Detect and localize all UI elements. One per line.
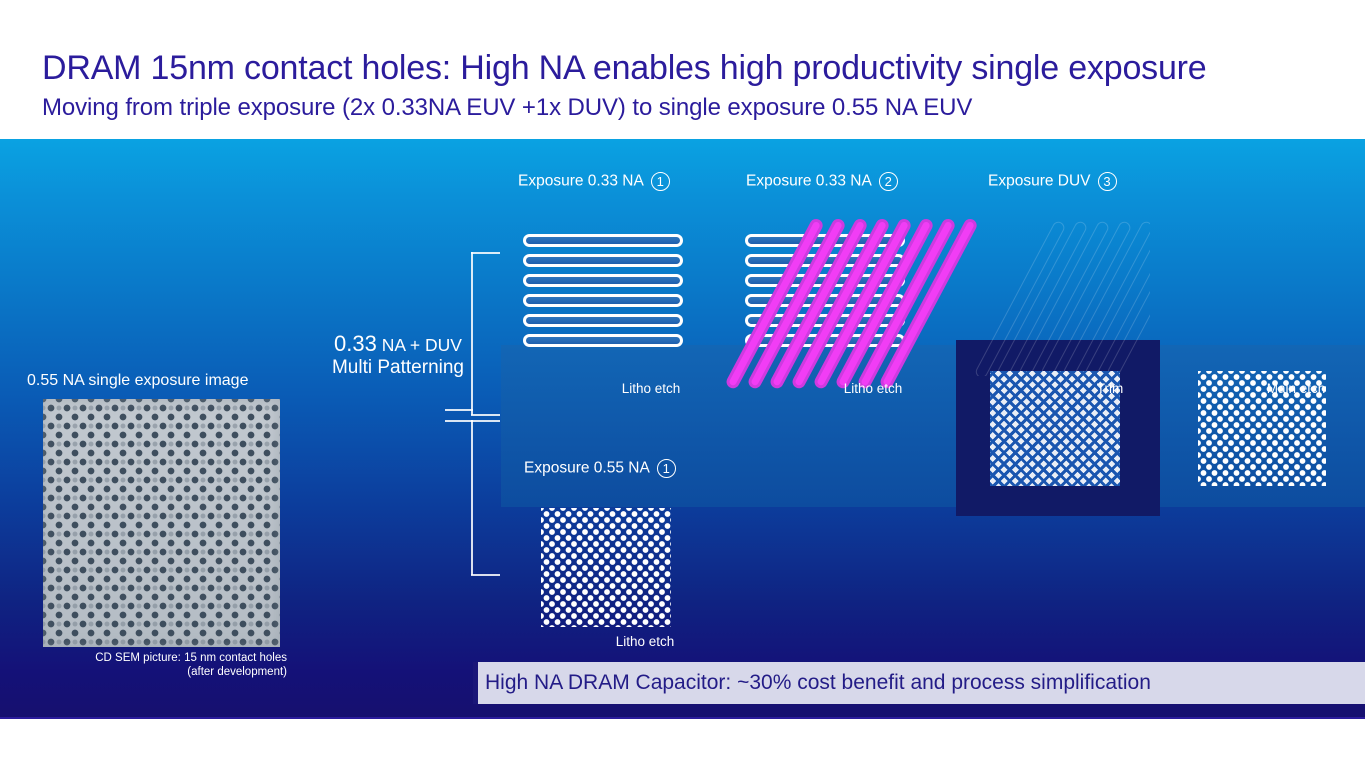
sem-subcaption-line1: CD SEM picture: 15 nm contact holes xyxy=(0,652,287,666)
exposure-label-3-text: Exposure DUV xyxy=(988,173,1091,190)
line-capsule xyxy=(523,294,683,307)
exposure-number-1: 1 xyxy=(651,172,670,191)
multi-na-line1: 0.33 NA + DUV xyxy=(253,332,543,357)
exposure-label-2-text: Exposure 0.33 NA xyxy=(746,173,872,190)
multi-na-suffix: NA + DUV xyxy=(377,335,462,355)
slide-body: 0.55 NA single exposure image CD SEM pic… xyxy=(0,139,1365,717)
step-label-3: Trim xyxy=(1030,381,1190,396)
exposure-number-2: 2 xyxy=(879,172,898,191)
multi-na-line2: Multi Patterning xyxy=(253,357,543,378)
pattern-tile-litho-etch-1 xyxy=(523,234,683,347)
slide-header: DRAM 15nm contact holes: High NA enables… xyxy=(0,0,1365,139)
page-title: DRAM 15nm contact holes: High NA enables… xyxy=(42,49,1207,88)
pattern-tile-trim-ghost xyxy=(975,201,1150,376)
step-label-4: Main etch xyxy=(1216,381,1365,396)
line-capsule xyxy=(523,314,683,327)
sem-subcaption: CD SEM picture: 15 nm contact holes (aft… xyxy=(0,652,287,679)
pattern-tile-single-litho-etch xyxy=(541,508,671,627)
exposure-label-1-text: Exposure 0.33 NA xyxy=(518,173,644,190)
exposure-label-single: Exposure 0.55 NA1 xyxy=(524,459,676,478)
line-capsule xyxy=(523,254,683,267)
step-label-2: Litho etch xyxy=(793,381,953,396)
step-label-single: Litho etch xyxy=(565,634,725,649)
summary-banner-text: High NA DRAM Capacitor: ~30% cost benefi… xyxy=(478,671,1151,695)
line-capsule xyxy=(523,274,683,287)
step-label-1: Litho etch xyxy=(571,381,731,396)
multi-patterning-label: 0.33 NA + DUV Multi Patterning xyxy=(253,332,543,378)
line-capsule xyxy=(523,334,683,347)
exposure-number-3: 3 xyxy=(1098,172,1117,191)
slide-footer: ASML November 14, 2024 Cost benefit is c… xyxy=(0,717,1365,768)
exposure-label-single-text: Exposure 0.55 NA xyxy=(524,460,650,477)
line-capsule xyxy=(523,234,683,247)
exposure-label-1: Exposure 0.33 NA1 xyxy=(518,172,670,191)
sem-subcaption-line2: (after development) xyxy=(0,666,287,680)
footer-divider xyxy=(0,717,1365,719)
sem-caption: 0.55 NA single exposure image xyxy=(27,372,248,390)
exposure-label-3: Exposure DUV3 xyxy=(988,172,1117,191)
exposure-label-2: Exposure 0.33 NA2 xyxy=(746,172,898,191)
pattern-tile-litho-etch-2-magenta xyxy=(728,201,928,386)
sem-image xyxy=(43,399,280,647)
summary-banner: High NA DRAM Capacitor: ~30% cost benefi… xyxy=(478,662,1365,704)
exposure-number-single: 1 xyxy=(657,459,676,478)
multi-na-value: 0.33 xyxy=(334,331,377,356)
page-subtitle: Moving from triple exposure (2x 0.33NA E… xyxy=(42,94,972,122)
